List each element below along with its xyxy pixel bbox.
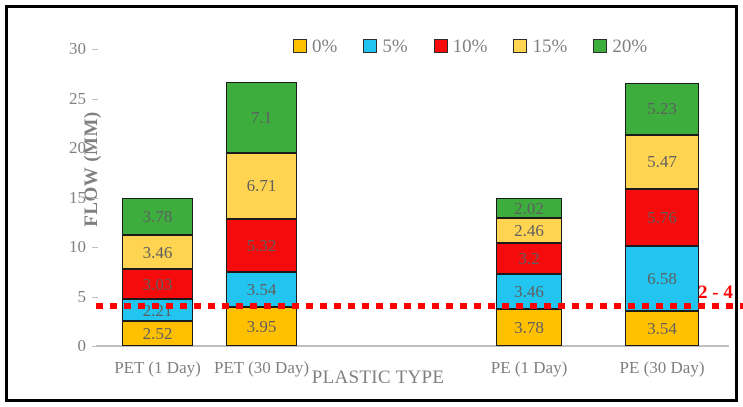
bar-segment[interactable]: 3.78	[496, 309, 562, 346]
stacked-bar[interactable]: 3.783.463.22.462.02	[496, 49, 562, 346]
bar-segment[interactable]: 3.2	[496, 243, 562, 275]
bar-segment[interactable]: 5.32	[226, 219, 297, 272]
y-tick-mark	[92, 99, 98, 100]
bar-segment[interactable]: 5.76	[625, 189, 699, 246]
bar-segment-value-label: 5.23	[647, 100, 677, 117]
bar-segment-value-label: 2.52	[143, 325, 173, 342]
bar-segment[interactable]: 6.58	[625, 246, 699, 311]
bar-segment-value-label: 5.47	[647, 153, 677, 170]
bar-segment-value-label: 6.71	[247, 177, 277, 194]
bar-segment[interactable]: 7.1	[226, 82, 297, 152]
bar-segment[interactable]: 3.46	[122, 235, 193, 269]
bar-segment[interactable]: 5.23	[625, 83, 699, 135]
y-tick-label: 0	[52, 337, 86, 354]
bar-segment[interactable]: 3.03	[122, 269, 193, 299]
bar-segment-value-label: 6.58	[647, 270, 677, 287]
bar-segment[interactable]: 2.02	[496, 198, 562, 218]
bar-segment-value-label: 3.78	[514, 319, 544, 336]
x-axis-title: PLASTIC TYPE	[283, 367, 473, 389]
bar-segment-value-label: 3.54	[647, 320, 677, 337]
y-tick-mark	[92, 49, 98, 50]
bar-segment-value-label: 3.54	[247, 281, 277, 298]
y-tick-mark	[92, 148, 98, 149]
bar-segment-value-label: 3.46	[514, 283, 544, 300]
stacked-bar[interactable]: 3.546.585.765.475.23	[625, 49, 699, 346]
bar-segment[interactable]: 3.54	[625, 311, 699, 346]
y-tick-label: 20	[52, 139, 86, 156]
y-tick-label: 5	[52, 288, 86, 305]
bar-segment[interactable]: 3.95	[226, 307, 297, 346]
bar-segment[interactable]: 6.71	[226, 153, 297, 219]
bar-segment-value-label: 5.76	[647, 209, 677, 226]
y-tick-label: 30	[52, 40, 86, 57]
y-tick-label: 25	[52, 90, 86, 107]
bar-segment[interactable]: 3.78	[122, 198, 193, 235]
chart-screenshot: 0%5%10%15%20% FLOW (MM) 051015202530 2.5…	[0, 0, 743, 407]
y-tick-label: 15	[52, 189, 86, 206]
y-tick-label: 10	[52, 238, 86, 255]
y-tick-mark	[92, 297, 98, 298]
bar-segment-value-label: 7.1	[251, 109, 272, 126]
threshold-annotation-label: 2 - 4	[698, 283, 733, 302]
chart-frame: 0%5%10%15%20% FLOW (MM) 051015202530 2.5…	[5, 5, 738, 402]
stacked-bar[interactable]: 2.522.213.033.463.78	[122, 49, 193, 346]
bar-segment-value-label: 3.78	[143, 208, 173, 225]
stacked-bar[interactable]: 3.953.545.326.717.1	[226, 49, 297, 346]
bar-segment[interactable]: 2.46	[496, 218, 562, 242]
x-tick-label: PE (30 Day)	[582, 358, 742, 378]
bar-segment[interactable]: 5.47	[625, 135, 699, 189]
threshold-line	[96, 303, 743, 309]
bar-segment-value-label: 5.32	[247, 237, 277, 254]
y-tick-mark	[92, 198, 98, 199]
y-tick-mark	[92, 247, 98, 248]
bar-segment-value-label: 3.2	[518, 250, 539, 267]
bar-segment[interactable]: 3.54	[226, 272, 297, 307]
plot-area: 2.522.213.033.463.783.953.545.326.717.13…	[104, 49, 725, 346]
bar-segment[interactable]: 2.52	[122, 321, 193, 346]
bar-segment-value-label: 3.03	[143, 276, 173, 293]
bar-segment-value-label: 2.46	[514, 222, 544, 239]
bar-segment-value-label: 3.95	[247, 318, 277, 335]
bar-segment-value-label: 3.46	[143, 244, 173, 261]
bar-segment-value-label: 2.02	[514, 200, 544, 217]
